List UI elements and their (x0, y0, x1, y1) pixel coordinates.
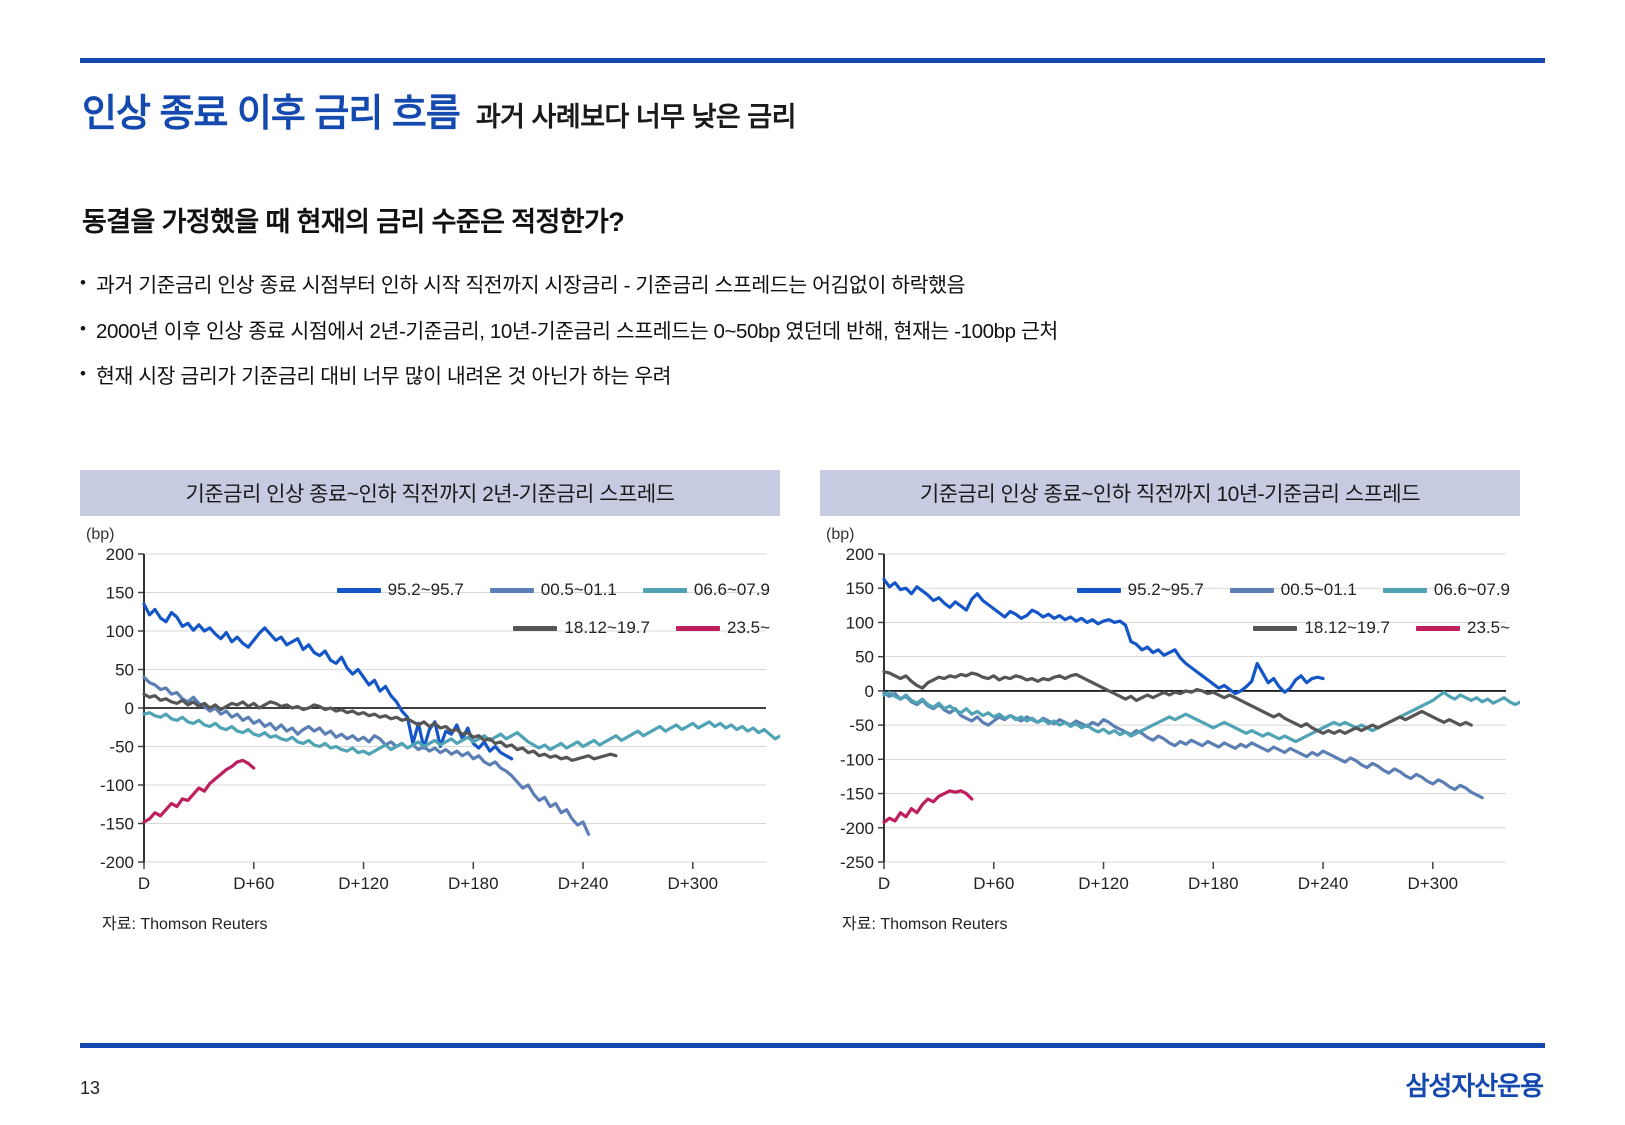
chart-unit-label: (bp) (86, 526, 780, 544)
svg-text:-100: -100 (840, 750, 874, 769)
bullet-marker-icon: • (80, 272, 96, 295)
legend-item-06[interactable]: 06.6~07.9 (643, 580, 770, 600)
chart-plot-area: 200150100500-50-100-150-200DD+60D+120D+1… (80, 546, 780, 896)
legend-swatch-23 (1416, 626, 1460, 631)
list-item: • 현재 시장 금리가 기준금리 대비 너무 많이 내려온 것 아닌가 하는 우… (80, 363, 1058, 391)
legend-swatch-23 (676, 626, 720, 631)
section-headline: 동결을 가정했을 때 현재의 금리 수준은 적정한가? (82, 200, 624, 239)
legend-label-23: 23.5~ (1467, 618, 1510, 638)
page-number: 13 (80, 1078, 100, 1099)
legend-swatch-06 (643, 588, 687, 593)
legend-swatch-95 (1077, 588, 1121, 593)
svg-text:D+300: D+300 (1408, 874, 1459, 893)
legend-item-06[interactable]: 06.6~07.9 (1383, 580, 1510, 600)
list-item: • 2000년 이후 인상 종료 시점에서 2년-기준금리, 10년-기준금리 … (80, 318, 1058, 346)
svg-text:-200: -200 (840, 819, 874, 838)
chart-title: 기준금리 인상 종료~인하 직전까지 2년-기준금리 스프레드 (80, 470, 780, 516)
legend-item-00[interactable]: 00.5~01.1 (1230, 580, 1357, 600)
legend-swatch-00 (1230, 588, 1274, 593)
svg-text:100: 100 (846, 613, 874, 632)
svg-text:D+120: D+120 (338, 874, 389, 893)
chart-unit-label: (bp) (826, 526, 1520, 544)
legend-item-18[interactable]: 18.12~19.7 (1253, 618, 1390, 638)
bullet-text: 현재 시장 금리가 기준금리 대비 너무 많이 내려온 것 아닌가 하는 우려 (96, 363, 671, 391)
legend-label-23: 23.5~ (727, 618, 770, 638)
chart-2y-block: 기준금리 인상 종료~인하 직전까지 2년-기준금리 스프레드 (bp) 200… (80, 470, 780, 970)
svg-text:200: 200 (846, 546, 874, 564)
svg-text:150: 150 (846, 579, 874, 598)
legend-row-1: 95.2~95.7 00.5~01.1 06.6~07.9 (1080, 580, 1510, 600)
svg-text:-50: -50 (849, 716, 874, 735)
legend-item-23[interactable]: 23.5~ (676, 618, 770, 638)
page-title: 인상 종료 이후 금리 흐름 과거 사례보다 너무 낮은 금리 (82, 82, 796, 137)
svg-text:D+240: D+240 (558, 874, 609, 893)
chart-legend: 95.2~95.7 00.5~01.1 06.6~07.9 18.12~19.7 (1080, 580, 1510, 656)
legend-swatch-18 (1253, 626, 1297, 631)
legend-swatch-95 (337, 588, 381, 593)
bullet-marker-icon: • (80, 318, 96, 341)
svg-text:100: 100 (106, 622, 134, 641)
legend-swatch-00 (490, 588, 534, 593)
bullet-list: • 과거 기준금리 인상 종료 시점부터 인하 시작 직전까지 시장금리 - 기… (80, 272, 1058, 409)
svg-text:50: 50 (855, 648, 874, 667)
svg-text:-100: -100 (100, 776, 134, 795)
legend-label-95: 95.2~95.7 (388, 580, 464, 600)
title-subtitle: 과거 사례보다 너무 낮은 금리 (476, 95, 796, 134)
legend-item-95[interactable]: 95.2~95.7 (337, 580, 464, 600)
legend-label-00: 00.5~01.1 (541, 580, 617, 600)
legend-item-18[interactable]: 18.12~19.7 (513, 618, 650, 638)
bullet-marker-icon: • (80, 363, 96, 386)
legend-row-2: 18.12~19.7 23.5~ (1080, 618, 1510, 638)
slide: 인상 종료 이후 금리 흐름 과거 사례보다 너무 낮은 금리 동결을 가정했을… (0, 0, 1625, 1125)
legend-item-95[interactable]: 95.2~95.7 (1077, 580, 1204, 600)
svg-text:-150: -150 (100, 815, 134, 834)
svg-text:D: D (878, 874, 890, 893)
bottom-rule (80, 1043, 1545, 1048)
svg-text:-150: -150 (840, 785, 874, 804)
legend-label-95: 95.2~95.7 (1128, 580, 1204, 600)
legend-label-00: 00.5~01.1 (1281, 580, 1357, 600)
legend-label-18: 18.12~19.7 (564, 618, 650, 638)
legend-label-06: 06.6~07.9 (1434, 580, 1510, 600)
chart-source: 자료: Thomson Reuters (102, 910, 780, 934)
chart-source: 자료: Thomson Reuters (842, 910, 1520, 934)
list-item: • 과거 기준금리 인상 종료 시점부터 인하 시작 직전까지 시장금리 - 기… (80, 272, 1058, 300)
legend-item-23[interactable]: 23.5~ (1416, 618, 1510, 638)
svg-text:D+60: D+60 (973, 874, 1014, 893)
legend-swatch-06 (1383, 588, 1427, 593)
brand-logo: 삼성자산운용 (1405, 1066, 1543, 1103)
svg-text:D+120: D+120 (1078, 874, 1129, 893)
chart-title: 기준금리 인상 종료~인하 직전까지 10년-기준금리 스프레드 (820, 470, 1520, 516)
legend-row-1: 95.2~95.7 00.5~01.1 06.6~07.9 (340, 580, 770, 600)
svg-text:D+180: D+180 (448, 874, 499, 893)
svg-text:-50: -50 (109, 738, 134, 757)
svg-text:0: 0 (125, 699, 134, 718)
bullet-text: 2000년 이후 인상 종료 시점에서 2년-기준금리, 10년-기준금리 스프… (96, 318, 1058, 346)
legend-row-2: 18.12~19.7 23.5~ (340, 618, 770, 638)
top-rule (80, 58, 1545, 63)
svg-text:D: D (138, 874, 150, 893)
svg-text:D+60: D+60 (233, 874, 274, 893)
svg-text:D+180: D+180 (1188, 874, 1239, 893)
svg-text:-250: -250 (840, 853, 874, 872)
legend-label-06: 06.6~07.9 (694, 580, 770, 600)
svg-text:D+240: D+240 (1298, 874, 1349, 893)
svg-text:150: 150 (106, 584, 134, 603)
legend-item-00[interactable]: 00.5~01.1 (490, 580, 617, 600)
svg-text:50: 50 (115, 661, 134, 680)
legend-label-18: 18.12~19.7 (1304, 618, 1390, 638)
svg-text:0: 0 (865, 682, 874, 701)
svg-text:D+300: D+300 (668, 874, 719, 893)
chart-10y-block: 기준금리 인상 종료~인하 직전까지 10년-기준금리 스프레드 (bp) 20… (820, 470, 1520, 970)
svg-text:200: 200 (106, 546, 134, 564)
chart-plot-area: 200150100500-50-100-150-200-250DD+60D+12… (820, 546, 1520, 896)
chart-legend: 95.2~95.7 00.5~01.1 06.6~07.9 18.12~19.7 (340, 580, 770, 656)
title-main: 인상 종료 이후 금리 흐름 (82, 82, 460, 137)
legend-swatch-18 (513, 626, 557, 631)
svg-text:-200: -200 (100, 853, 134, 872)
bullet-text: 과거 기준금리 인상 종료 시점부터 인하 시작 직전까지 시장금리 - 기준금… (96, 272, 965, 300)
